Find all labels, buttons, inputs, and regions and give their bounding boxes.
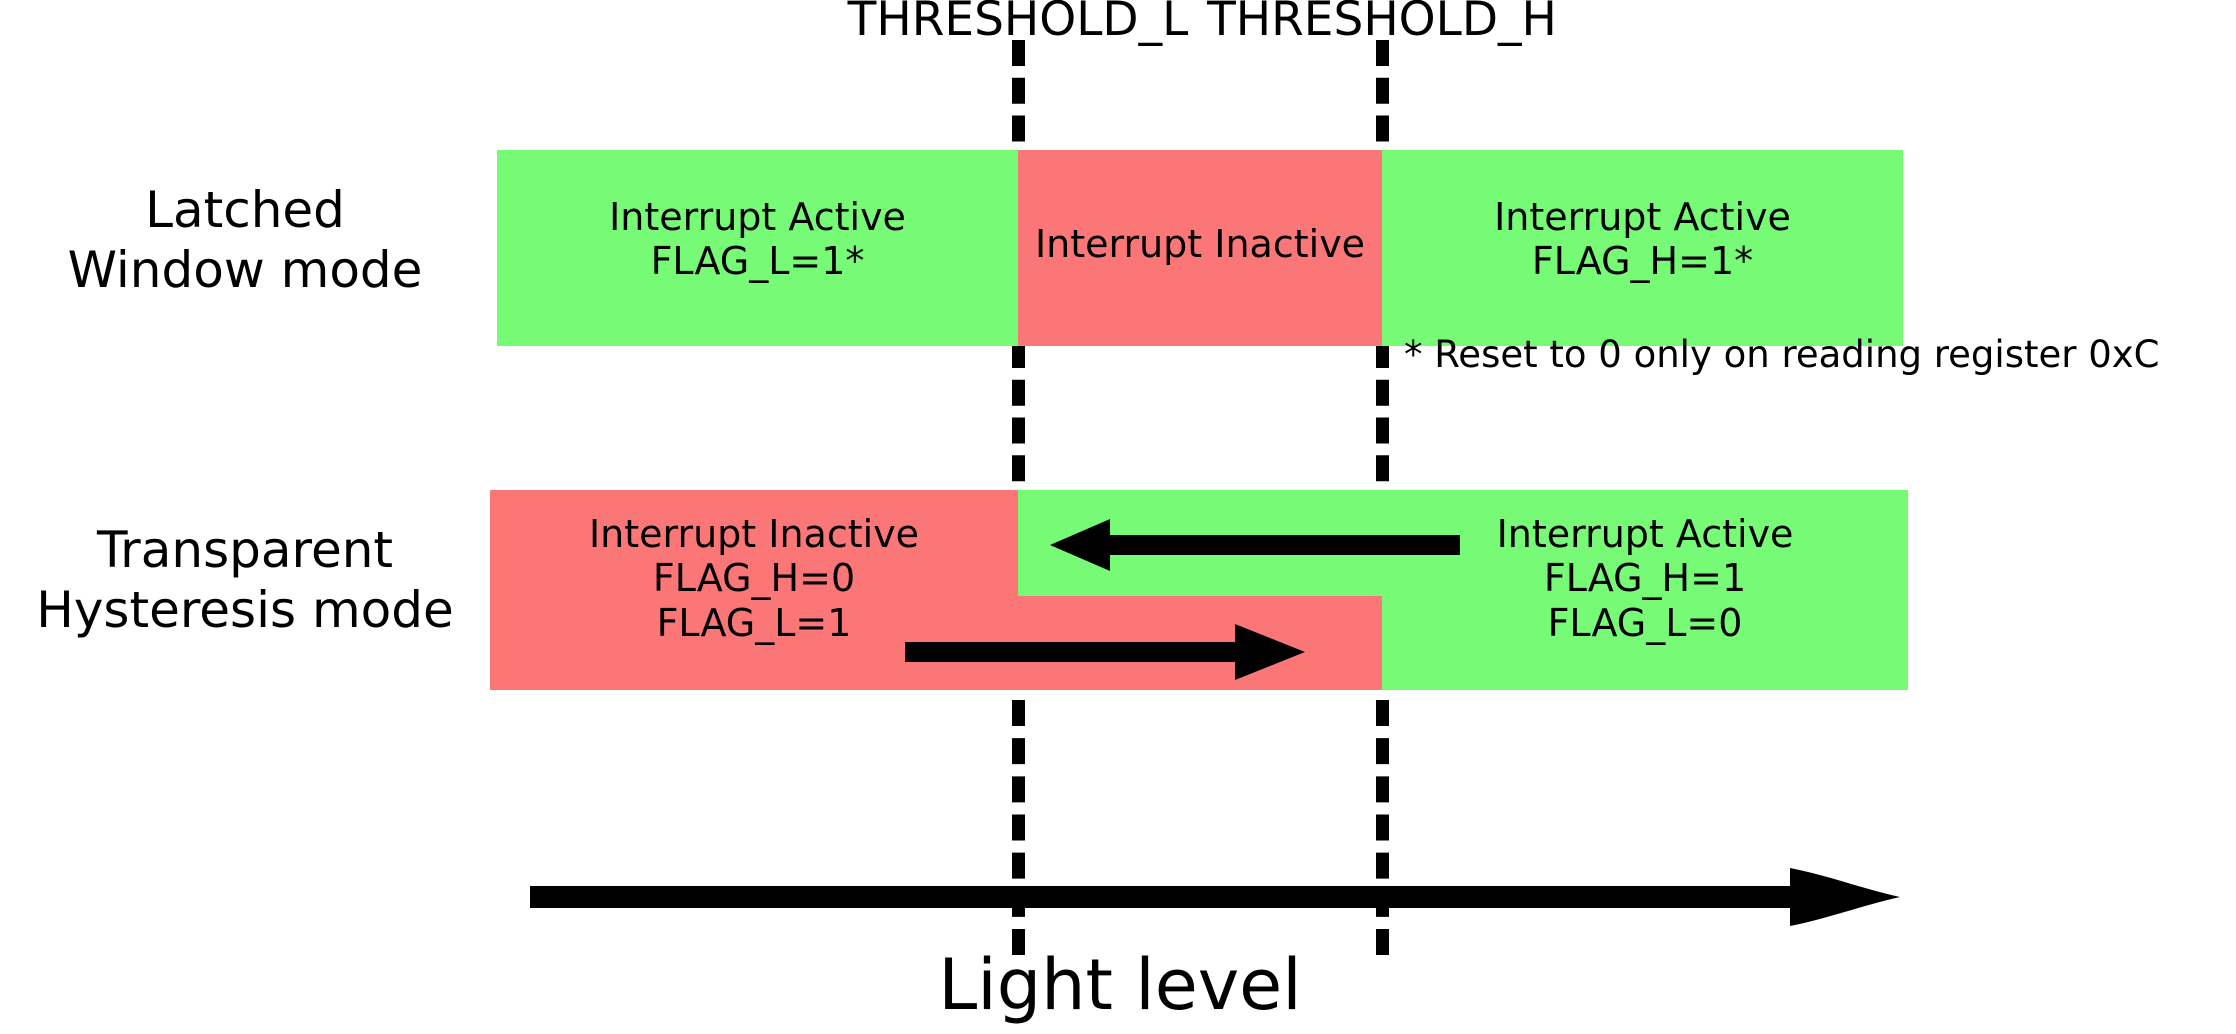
row-label-latched-window-mode: Latched Window mode bbox=[0, 180, 490, 300]
segment-flag-h-text: FLAG_H=1 bbox=[1382, 556, 1908, 600]
segment-state-text: Interrupt Inactive bbox=[490, 512, 1018, 556]
row-label-line2: Hysteresis mode bbox=[0, 580, 490, 640]
falling-transition-arrow-icon bbox=[1050, 505, 1460, 585]
segment-latched-in-window-text: Interrupt Inactive bbox=[1018, 222, 1382, 266]
light-level-axis-title: Light level bbox=[760, 950, 1480, 1020]
segment-flag-text: FLAG_H=1* bbox=[1382, 239, 1903, 283]
segment-state-text: Interrupt Inactive bbox=[1018, 222, 1382, 266]
diagram-canvas: THRESHOLD_L THRESHOLD_H Latched Window m… bbox=[0, 0, 2236, 1034]
threshold-low-dashed-line-lower bbox=[1012, 700, 1025, 955]
light-level-axis-arrowhead-icon bbox=[1790, 856, 1900, 938]
segment-flag-text: FLAG_L=1* bbox=[497, 239, 1018, 283]
row-label-line1: Latched bbox=[0, 180, 490, 240]
row-label-line1: Transparent bbox=[0, 520, 490, 580]
segment-hysteresis-high-text: Interrupt Active FLAG_H=1 FLAG_L=0 bbox=[1382, 512, 1908, 645]
segment-latched-above-high-text: Interrupt Active FLAG_H=1* bbox=[1382, 195, 1903, 284]
segment-flag-l-text: FLAG_L=0 bbox=[1382, 601, 1908, 645]
row-label-transparent-hysteresis-mode: Transparent Hysteresis mode bbox=[0, 520, 490, 640]
row-label-line2: Window mode bbox=[0, 240, 490, 300]
segment-state-text: Interrupt Active bbox=[1382, 195, 1903, 239]
segment-state-text: Interrupt Active bbox=[497, 195, 1018, 239]
threshold-high-label: THRESHOLD_H bbox=[1132, 0, 1632, 43]
light-level-axis-line bbox=[530, 886, 1830, 908]
segment-latched-below-low-text: Interrupt Active FLAG_L=1* bbox=[497, 195, 1018, 284]
segment-flag-h-text: FLAG_H=0 bbox=[490, 556, 1018, 600]
rising-transition-arrow-icon bbox=[905, 612, 1305, 692]
footnote-reset-note: * Reset to 0 only on reading register 0x… bbox=[1404, 336, 2159, 373]
threshold-high-dashed-line-lower bbox=[1376, 700, 1389, 955]
segment-state-text: Interrupt Active bbox=[1382, 512, 1908, 556]
